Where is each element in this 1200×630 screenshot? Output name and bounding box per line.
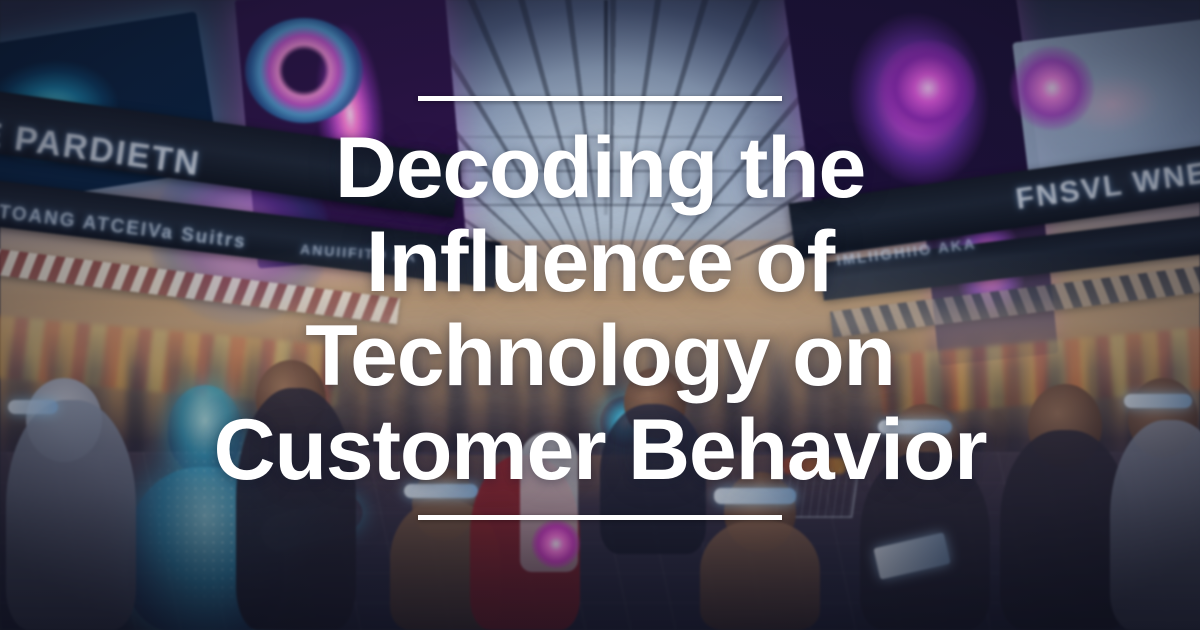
title-line-2: Influence of bbox=[150, 215, 1050, 309]
title-line-3: Technology on bbox=[150, 309, 1050, 403]
shopper-body-5 bbox=[700, 520, 820, 630]
title-line-1: Decoding the bbox=[150, 121, 1050, 215]
page-title: Decoding the Influence of Technology on … bbox=[150, 121, 1050, 497]
hero-banner: E PARDIETN CTOANG ATCEIVa Suitrs FNSVL W… bbox=[0, 0, 1200, 630]
title-line-4: Customer Behavior bbox=[150, 403, 1050, 497]
divider-rule-top bbox=[418, 96, 782, 101]
glowing-emblem bbox=[532, 520, 580, 568]
divider-rule-bottom bbox=[418, 515, 782, 520]
title-block: Decoding the Influence of Technology on … bbox=[0, 96, 1200, 520]
